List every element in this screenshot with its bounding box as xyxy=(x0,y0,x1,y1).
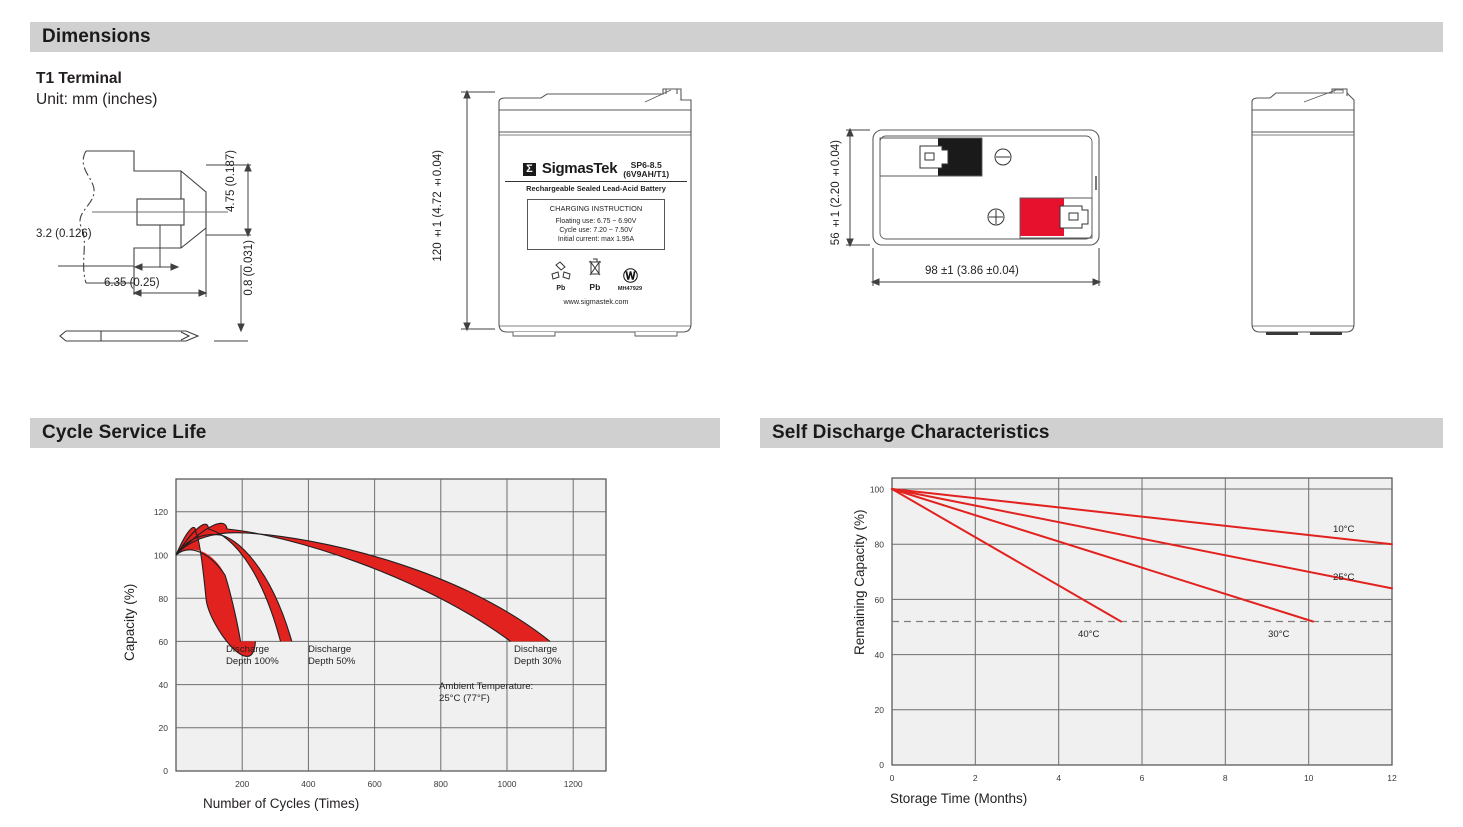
terminal-hole-offset-dim: 3.2 (0.126) xyxy=(36,228,92,240)
recycle-icon xyxy=(550,261,572,280)
svg-text:20: 20 xyxy=(875,705,885,715)
svg-text:800: 800 xyxy=(434,779,448,789)
no-bin-icon xyxy=(588,258,602,277)
ul-file-number: MH47929 xyxy=(618,286,642,292)
unit-note: Unit: mm (inches) xyxy=(36,91,157,109)
annot-dod100-l1: Discharge xyxy=(226,644,269,655)
battery-type-line: Rechargeable Sealed Lead-Acid Battery xyxy=(505,181,687,193)
svg-text:8: 8 xyxy=(1223,773,1228,783)
svg-text:1000: 1000 xyxy=(498,779,517,789)
svg-text:400: 400 xyxy=(301,779,315,789)
battery-front-height-dim: 120 ±1 (4.72 ±0.04) xyxy=(432,150,444,262)
battery-top-view xyxy=(870,128,1102,248)
svg-text:60: 60 xyxy=(875,595,885,605)
charging-instruction-title: CHARGING INSTRUCTION xyxy=(530,204,662,213)
svg-text:120: 120 xyxy=(154,507,168,517)
svg-text:600: 600 xyxy=(368,779,382,789)
terminal-thickness-dim: 0.8 (0.031) xyxy=(243,240,255,296)
label-10C: 10°C xyxy=(1333,524,1355,535)
svg-text:0: 0 xyxy=(890,773,895,783)
svg-text:60: 60 xyxy=(159,637,169,647)
svg-text:100: 100 xyxy=(870,485,884,495)
svg-text:80: 80 xyxy=(875,540,885,550)
svg-text:6: 6 xyxy=(1140,773,1145,783)
svg-text:0: 0 xyxy=(163,766,168,776)
svg-text:12: 12 xyxy=(1387,773,1397,783)
self-discharge-section-title: Self Discharge Characteristics xyxy=(760,422,1050,444)
self-discharge-xlabel: Storage Time (Months) xyxy=(890,791,1027,806)
cycle-service-life-chart: 0 20 40 60 80 100 120 200 400 600 800 10… xyxy=(30,465,720,810)
cycle-service-life-section-header: Cycle Service Life xyxy=(30,418,720,448)
charging-line-1: Cycle use: 7.20 ~ 7.50V xyxy=(530,226,662,235)
cycle-chart-ylabel: Capacity (%) xyxy=(122,584,137,661)
cycle-chart-xlabel: Number of Cycles (Times) xyxy=(203,796,359,811)
svg-text:40: 40 xyxy=(875,650,885,660)
battery-top-depth-dim-line xyxy=(838,128,870,248)
battery-top-depth-dim: 56 ±1 (2.20 ±0.04) xyxy=(830,140,842,245)
annot-ambient-l1: Ambient Temperature: xyxy=(439,681,533,692)
battery-side-view xyxy=(1248,88,1358,338)
charging-line-2: Initial current: max 1.95A xyxy=(530,235,662,244)
annot-ambient-l2: 25°C (77°F) xyxy=(439,693,490,704)
sigma-logo-icon: Σ xyxy=(523,163,536,176)
t1-terminal-heading: T1 Terminal xyxy=(36,70,122,88)
label-40C: 40°C xyxy=(1078,629,1100,640)
annot-dod30-l1: Discharge xyxy=(514,644,557,655)
self-discharge-ylabel: Remaining Capacity (%) xyxy=(852,509,867,655)
svg-text:2: 2 xyxy=(973,773,978,783)
battery-spec: (6V9AH/T1) xyxy=(623,170,669,179)
battery-brand: SigmasTek xyxy=(542,160,617,177)
self-discharge-chart: 10°C 25°C 30°C 40°C 0 20 40 60 80 100 0 … xyxy=(760,465,1443,810)
svg-text:20: 20 xyxy=(159,723,169,733)
battery-label: Σ SigmasTek SP6-8.5 (6V9AH/T1) Rechargea… xyxy=(505,160,687,306)
annot-dod100-l2: Depth 100% xyxy=(226,656,279,667)
svg-text:0: 0 xyxy=(879,760,884,770)
battery-top-width-dim: 98 ±1 (3.86 ±0.04) xyxy=(925,265,1019,277)
svg-text:1200: 1200 xyxy=(564,779,583,789)
annot-dod30-l2: Depth 30% xyxy=(514,656,562,667)
svg-text:10: 10 xyxy=(1304,773,1314,783)
dimensions-section-title: Dimensions xyxy=(30,26,151,48)
annot-dod50-l1: Discharge xyxy=(308,644,351,655)
dimensions-section-header: Dimensions xyxy=(30,22,1443,52)
terminal-width-dim: 6.35 (0.25) xyxy=(104,277,160,289)
battery-front-height-dim-line xyxy=(455,88,495,333)
charging-line-0: Floating use: 6.75 ~ 6.90V xyxy=(530,217,662,226)
terminal-height-dim: 4.75 (0.187) xyxy=(225,150,237,212)
svg-text:100: 100 xyxy=(154,551,168,561)
battery-website: www.sigmastek.com xyxy=(505,297,687,306)
no-bin-pb-text: Pb xyxy=(588,282,602,292)
svg-text:4: 4 xyxy=(1056,773,1061,783)
recycle-pb-text: Pb xyxy=(550,285,572,292)
annot-dod50-l2: Depth 50% xyxy=(308,656,356,667)
label-25C: 25°C xyxy=(1333,572,1355,583)
svg-text:40: 40 xyxy=(159,680,169,690)
label-30C: 30°C xyxy=(1268,629,1290,640)
ul-mark-icon: Ⓦ xyxy=(623,268,637,285)
positive-terminal-pad xyxy=(1020,198,1064,236)
svg-text:200: 200 xyxy=(235,779,249,789)
cycle-service-life-section-title: Cycle Service Life xyxy=(30,422,206,444)
svg-text:80: 80 xyxy=(159,594,169,604)
self-discharge-section-header: Self Discharge Characteristics xyxy=(760,418,1443,448)
t1-terminal-drawing xyxy=(36,135,326,360)
charging-instruction-box: CHARGING INSTRUCTION Floating use: 6.75 … xyxy=(527,199,665,250)
